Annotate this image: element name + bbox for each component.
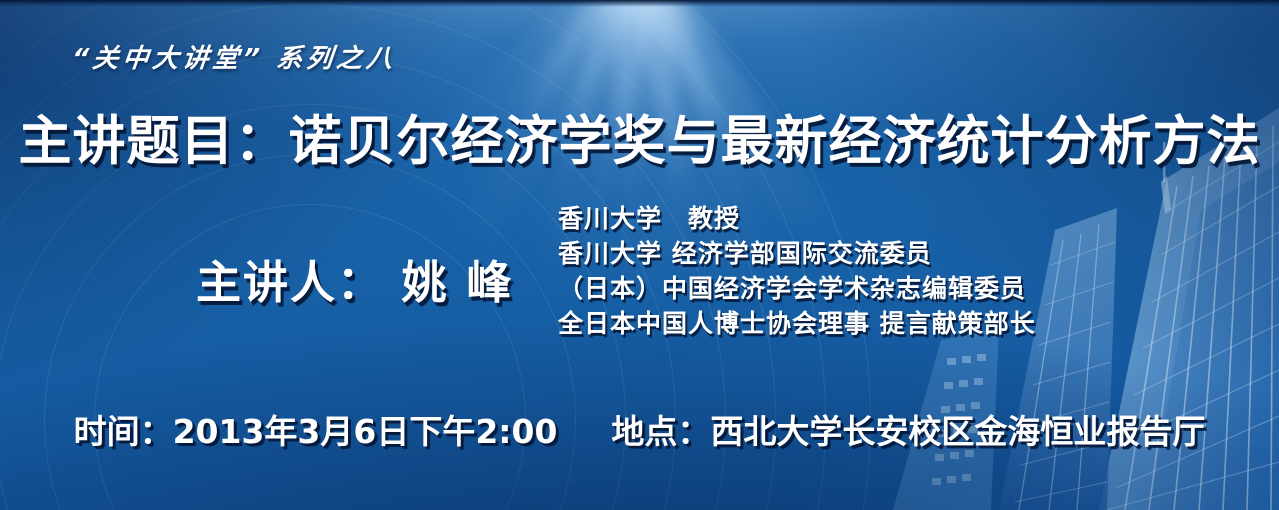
speaker-name: 主讲人： 姚 峰 <box>196 246 513 311</box>
top-edge-strip <box>0 0 1279 7</box>
credential-line: 香川大学 教授 <box>558 203 1036 234</box>
credential-line: （日本）中国经济学会学术杂志编辑委员 <box>558 273 1036 304</box>
credential-line: 全日本中国人博士协会理事 提言献策部长 <box>558 308 1036 339</box>
credential-line: 香川大学 经济学部国际交流委员 <box>558 238 1036 269</box>
event-location: 地点：西北大学长安校区金海恒业报告厅 <box>611 405 1205 453</box>
event-poster: “关中大讲堂” 系列之八 主讲题目：诺贝尔经济学奖与最新经济统计分析方法 主讲人… <box>0 0 1279 510</box>
event-details: 时间：2013年3月6日下午2:00 地点：西北大学长安校区金海恒业报告厅 <box>0 405 1279 453</box>
series-label: “关中大讲堂” 系列之八 <box>70 38 398 75</box>
page-title: 主讲题目：诺贝尔经济学奖与最新经济统计分析方法 <box>19 99 1261 175</box>
speaker-credentials: 香川大学 教授 香川大学 经济学部国际交流委员 （日本）中国经济学会学术杂志编辑… <box>558 203 1036 339</box>
event-time: 时间：2013年3月6日下午2:00 <box>74 405 558 453</box>
